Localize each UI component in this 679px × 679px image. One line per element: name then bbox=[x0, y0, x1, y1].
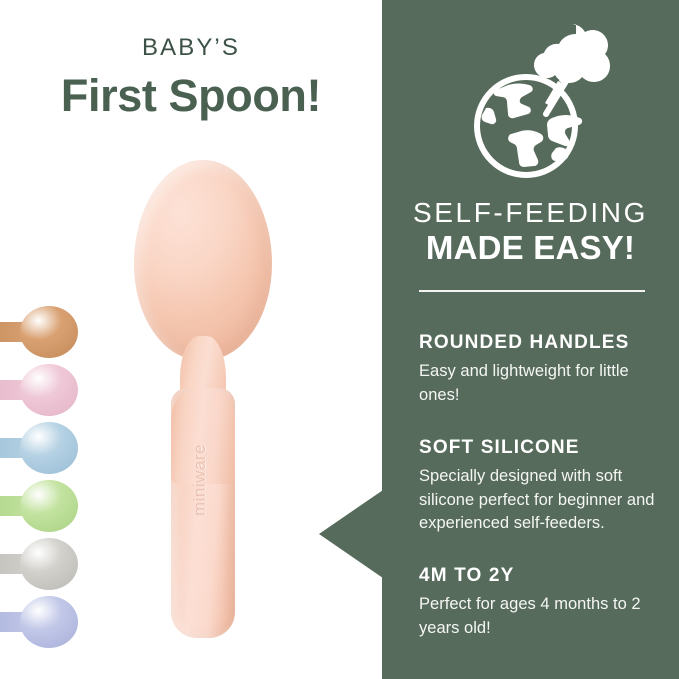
variant-spoon-bowl bbox=[20, 596, 78, 648]
feature-title: SOFT SILICONE bbox=[419, 438, 665, 459]
feature-body: Perfect for ages 4 months to 2 years old… bbox=[419, 593, 665, 641]
variant-spoon-bowl bbox=[20, 480, 78, 532]
headline-block: BABY’S First Spoon! bbox=[0, 36, 382, 121]
eyebrow-text: BABY’S bbox=[0, 36, 382, 60]
spoon-bowl bbox=[134, 160, 272, 360]
globe-sprout-icon bbox=[464, 22, 624, 182]
feature-item: SOFT SILICONESpecially designed with sof… bbox=[419, 438, 665, 537]
panel-title-block: SELF-FEEDING MADE EASY! bbox=[382, 198, 679, 266]
spoon-handle-taper bbox=[171, 388, 235, 484]
variant-spoon-bowl bbox=[20, 422, 78, 474]
hero-spoon: miniware bbox=[128, 160, 278, 642]
panel-divider-rule bbox=[419, 290, 645, 292]
panel-pointer-arrow bbox=[319, 490, 383, 578]
panel-kicker: SELF-FEEDING bbox=[382, 198, 679, 227]
feature-title: 4M TO 2Y bbox=[419, 566, 665, 587]
feature-body: Easy and lightweight for little ones! bbox=[419, 360, 665, 408]
variant-spoon-bowl bbox=[20, 538, 78, 590]
color-variant-spoon bbox=[0, 596, 78, 648]
color-variant-spoon bbox=[0, 306, 78, 358]
variant-spoon-bowl bbox=[20, 306, 78, 358]
color-variant-spoon bbox=[0, 480, 78, 532]
product-infographic: BABY’S First Spoon! miniware bbox=[0, 0, 679, 679]
variant-spoon-bowl bbox=[20, 364, 78, 416]
feature-item: ROUNDED HANDLESEasy and lightweight for … bbox=[419, 333, 665, 408]
feature-title: ROUNDED HANDLES bbox=[419, 333, 665, 354]
feature-body: Specially designed with soft silicone pe… bbox=[419, 465, 665, 537]
color-variant-spoon bbox=[0, 538, 78, 590]
feature-item: 4M TO 2YPerfect for ages 4 months to 2 y… bbox=[419, 566, 665, 641]
feature-list: ROUNDED HANDLESEasy and lightweight for … bbox=[419, 333, 665, 641]
color-variant-spoon bbox=[0, 364, 78, 416]
page-title: First Spoon! bbox=[0, 72, 382, 121]
panel-title: MADE EASY! bbox=[382, 230, 679, 266]
color-variant-spoon bbox=[0, 422, 78, 474]
